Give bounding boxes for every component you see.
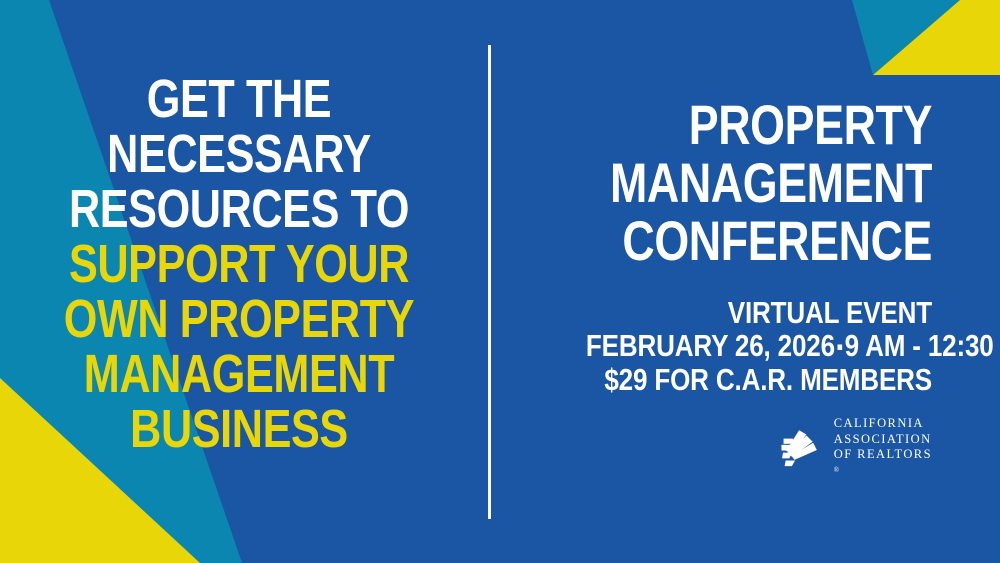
car-logo-line-3: OF REALTORS® <box>834 447 932 481</box>
california-association-of-realtors-mark-icon <box>769 423 821 475</box>
event-panel: PROPERTY MANAGEMENT CONFERENCE VIRTUAL E… <box>520 96 932 396</box>
vertical-divider <box>488 45 491 519</box>
headline-line-7: BUSINESS <box>48 402 430 457</box>
car-logo: CALIFORNIA ASSOCIATION OF REALTORS® <box>769 416 932 481</box>
registered-trademark-icon: ® <box>834 466 839 474</box>
car-logo-line-2: ASSOCIATION <box>834 432 932 448</box>
event-title-line-3: CONFERENCE <box>602 212 932 270</box>
car-logo-line-1: CALIFORNIA <box>834 416 932 432</box>
car-logo-text: CALIFORNIA ASSOCIATION OF REALTORS® <box>834 416 932 481</box>
event-title-line-1: PROPERTY <box>602 96 932 154</box>
event-title: PROPERTY MANAGEMENT CONFERENCE <box>520 96 932 270</box>
event-datetime: FEBRUARY 26, 2026▪9 AM - 12:30 PM <box>586 329 932 363</box>
headline-line-2: NECESSARY <box>48 127 430 182</box>
headline-line-5: OWN PROPERTY <box>48 292 430 347</box>
headline-block: GET THE NECESSARY RESOURCES TO SUPPORT Y… <box>0 72 478 457</box>
event-time: 9 AM - 12:30 PM <box>845 328 1000 363</box>
event-price: $29 FOR C.A.R. MEMBERS <box>586 363 932 396</box>
event-format: VIRTUAL EVENT <box>586 296 932 329</box>
promotional-banner: GET THE NECESSARY RESOURCES TO SUPPORT Y… <box>0 0 1000 563</box>
event-date: FEBRUARY 26, 2026 <box>586 328 835 363</box>
separator-bullet: ▪ <box>835 334 845 359</box>
event-details: VIRTUAL EVENT FEBRUARY 26, 2026▪9 AM - 1… <box>520 296 932 396</box>
headline-line-6: MANAGEMENT <box>48 347 430 402</box>
event-title-line-2: MANAGEMENT <box>602 154 932 212</box>
car-logo-line-3-text: OF REALTORS <box>834 447 932 463</box>
headline-line-1: GET THE <box>48 72 430 127</box>
headline-line-4: SUPPORT YOUR <box>48 237 430 292</box>
headline-line-3: RESOURCES TO <box>48 182 430 237</box>
